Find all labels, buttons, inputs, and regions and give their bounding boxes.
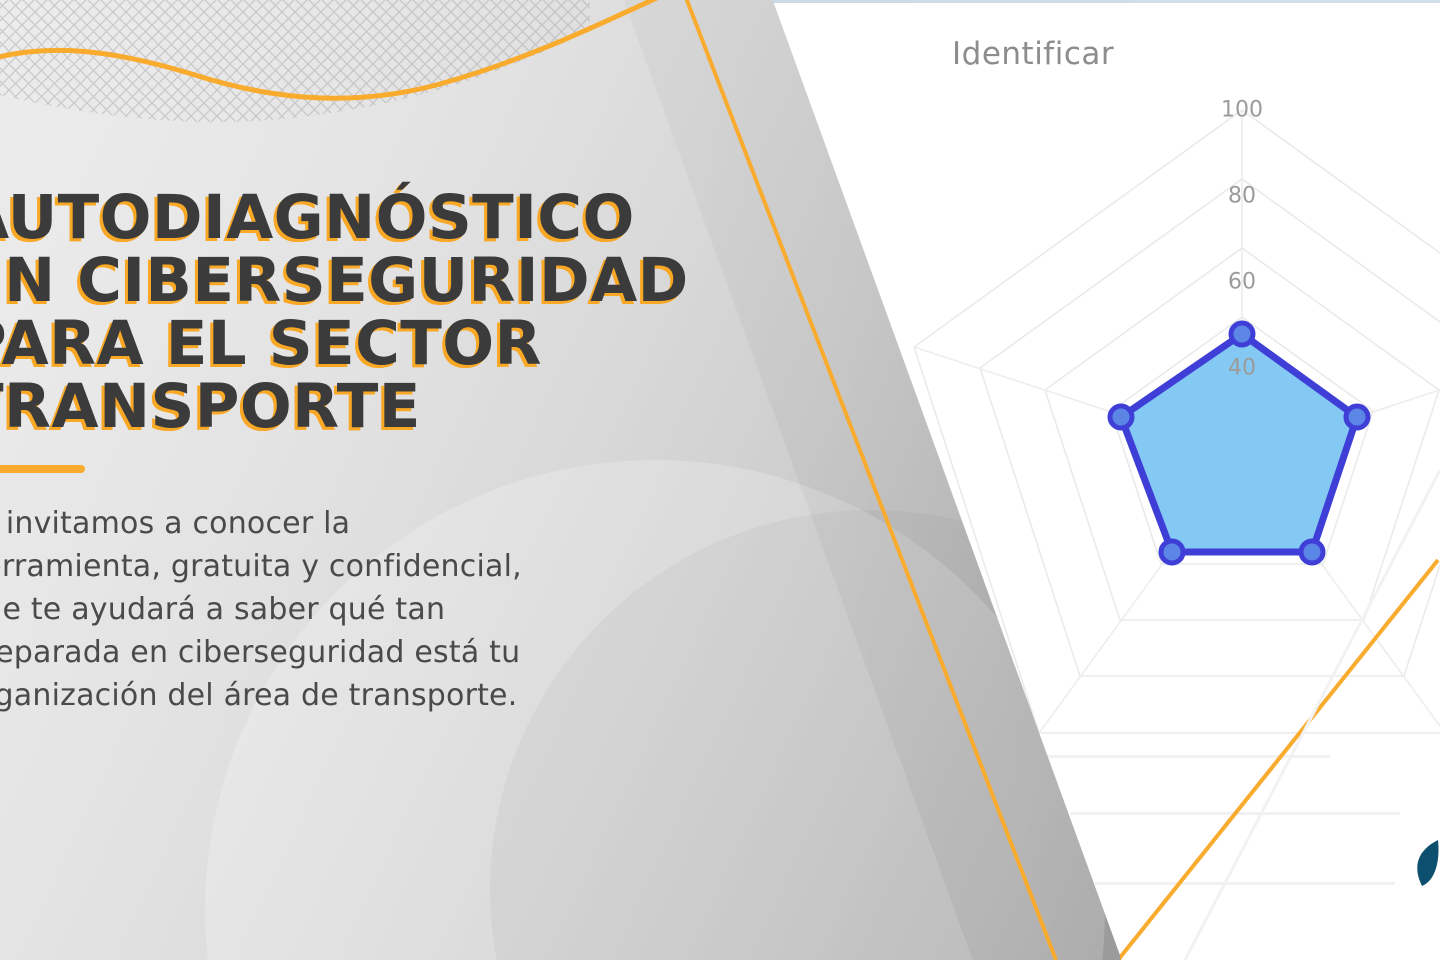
page-title: AUTODIAGNÓSTICO EN CIBERSEGURIDAD PARA E… bbox=[0, 186, 782, 438]
decor-hairline-3 bbox=[1095, 882, 1395, 885]
accent-underline-bar bbox=[0, 465, 85, 473]
headline-block: AUTODIAGNÓSTICO EN CIBERSEGURIDAD PARA E… bbox=[0, 186, 782, 438]
body-paragraph: Te invitamos a conocer la herramienta, g… bbox=[0, 502, 824, 717]
top-hairline-divider bbox=[700, 0, 1440, 3]
slide-canvas: Identificar 100 80 60 40 bbox=[0, 0, 1440, 960]
decor-hairline-2 bbox=[1070, 812, 1400, 815]
decor-hairline-1 bbox=[1030, 755, 1330, 758]
